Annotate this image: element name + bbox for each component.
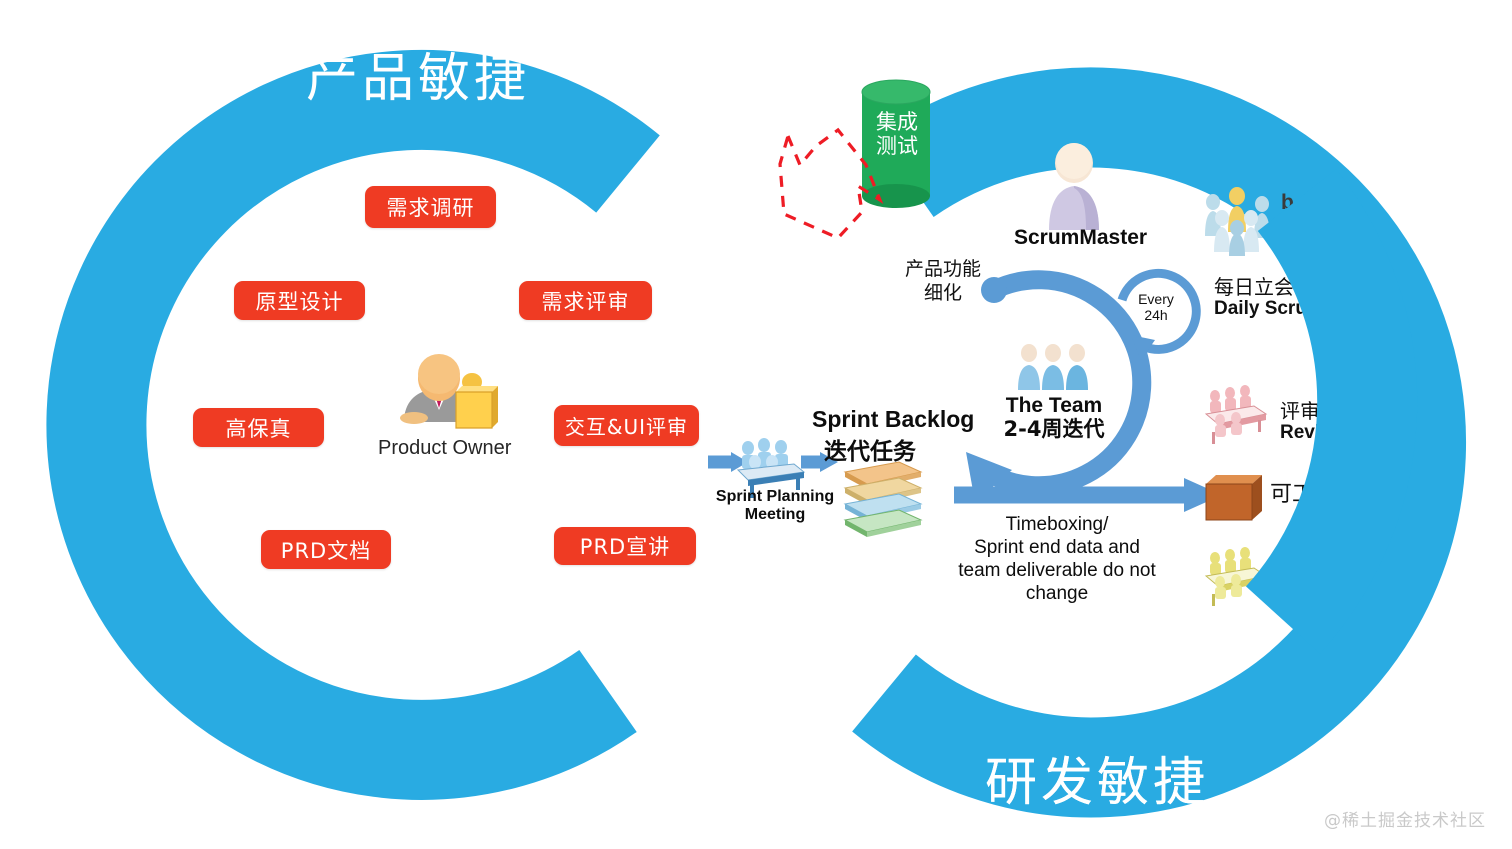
meeting-table-yellow-icon: [0, 0, 1512, 849]
event-row-retrospective: 反思会 Retros: [1272, 562, 1340, 606]
page-title-right-ring-overlay: 研发敏捷: [985, 740, 1209, 815]
diagram-canvas: 产品敏捷 研发敏捷 需求调研 原型设计 需求评审 高保真 交互&UI评审 PRD…: [0, 0, 1512, 849]
event-label-en-retrospective: Retros: [1280, 584, 1340, 605]
event-label-cn-retrospective: 反思会: [1280, 562, 1340, 584]
watermark: @稀土掘金技术社区: [1324, 806, 1486, 831]
